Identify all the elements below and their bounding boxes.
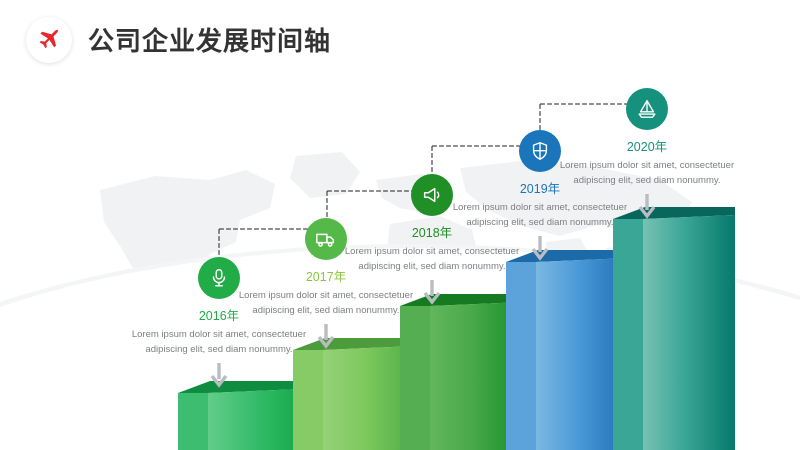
truck-icon [315, 228, 337, 250]
sailboat-icon [636, 98, 658, 120]
arrow-down-icon [636, 193, 658, 219]
arrow-down-icon [421, 279, 443, 305]
shield-icon [529, 140, 551, 162]
milestone-desc-2020: Lorem ipsum dolor sit amet, consectetuer… [559, 159, 735, 188]
arrow-down-icon [315, 323, 337, 349]
header-bar: 公司企业发展时间轴 [0, 0, 800, 78]
page-title: 公司企业发展时间轴 [88, 21, 331, 58]
logo-badge [26, 17, 72, 63]
milestone-icon-badge-2018[interactable] [411, 174, 453, 216]
arrow-down-icon [208, 362, 230, 388]
milestone-icon-badge-2017[interactable] [305, 218, 347, 260]
milestone-year-2020: 2020年 [559, 136, 735, 155]
airplane-icon [36, 27, 62, 53]
infographic-canvas: 2016年 Lorem ipsum dolor sit amet, consec… [0, 0, 800, 450]
megaphone-icon [421, 184, 443, 206]
milestone-icon-badge-2019[interactable] [519, 130, 561, 172]
arrow-down-icon [529, 235, 551, 261]
microphone-icon [208, 267, 230, 289]
milestone-icon-badge-2016[interactable] [198, 257, 240, 299]
milestone-icon-badge-2020[interactable] [626, 88, 668, 130]
milestone-2020[interactable]: 2020年 Lorem ipsum dolor sit amet, consec… [559, 88, 735, 224]
